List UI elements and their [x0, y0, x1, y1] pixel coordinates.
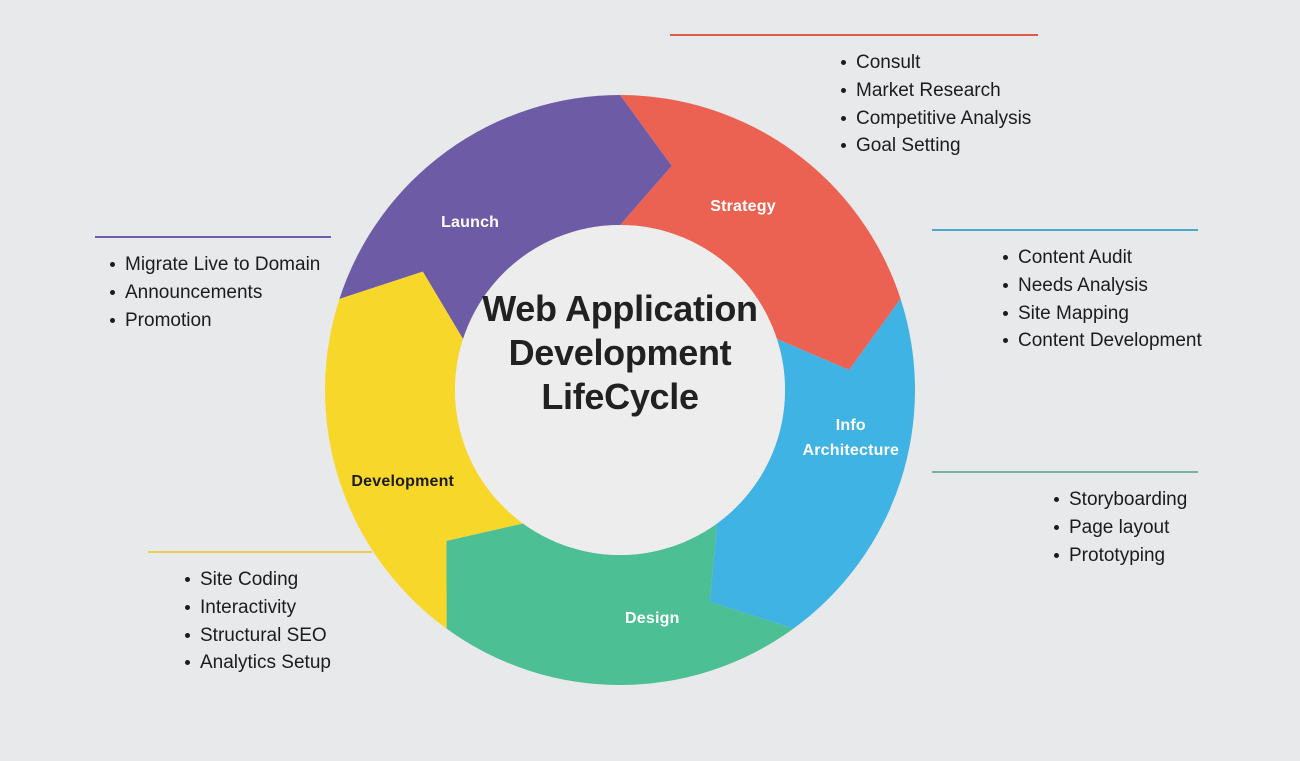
list-item: Needs Analysis — [1018, 273, 1198, 301]
callout-strategy: ConsultMarket ResearchCompetitive Analys… — [670, 34, 1038, 161]
callout-list-strategy: ConsultMarket ResearchCompetitive Analys… — [670, 50, 1038, 161]
callout-rule-strategy — [670, 34, 1038, 36]
callout-rule-design — [932, 471, 1198, 473]
list-item: Page layout — [1069, 515, 1198, 543]
list-item: Storyboarding — [1069, 487, 1198, 515]
list-item: Content Development — [1018, 328, 1198, 356]
callout-rule-info-architecture — [932, 229, 1198, 231]
callout-development: Site CodingInteractivityStructural SEOAn… — [148, 551, 372, 678]
callout-rule-launch — [95, 236, 331, 238]
list-item: Content Audit — [1018, 245, 1198, 273]
callout-launch: Migrate Live to DomainAnnouncementsPromo… — [95, 236, 331, 335]
list-item: Promotion — [125, 308, 331, 336]
list-item: Migrate Live to Domain — [125, 252, 331, 280]
callout-list-info-architecture: Content AuditNeeds AnalysisSite MappingC… — [932, 245, 1198, 356]
center-title: Web Application Development LifeCycle — [455, 287, 785, 419]
list-item: Goal Setting — [856, 133, 1038, 161]
callout-list-design: StoryboardingPage layoutPrototyping — [932, 487, 1198, 570]
callout-rule-development — [148, 551, 372, 553]
callout-list-development: Site CodingInteractivityStructural SEOAn… — [148, 567, 372, 678]
diagram-canvas: Strategy Info Architecture Design Develo… — [0, 0, 1300, 761]
list-item: Competitive Analysis — [856, 106, 1038, 134]
list-item: Interactivity — [200, 595, 372, 623]
callout-list-launch: Migrate Live to DomainAnnouncementsPromo… — [95, 252, 331, 335]
callout-design: StoryboardingPage layoutPrototyping — [932, 471, 1198, 570]
list-item: Prototyping — [1069, 543, 1198, 571]
list-item: Consult — [856, 50, 1038, 78]
list-item: Analytics Setup — [200, 650, 372, 678]
list-item: Structural SEO — [200, 623, 372, 651]
list-item: Announcements — [125, 280, 331, 308]
list-item: Site Mapping — [1018, 301, 1198, 329]
callout-info-architecture: Content AuditNeeds AnalysisSite MappingC… — [932, 229, 1198, 356]
list-item: Site Coding — [200, 567, 372, 595]
list-item: Market Research — [856, 78, 1038, 106]
